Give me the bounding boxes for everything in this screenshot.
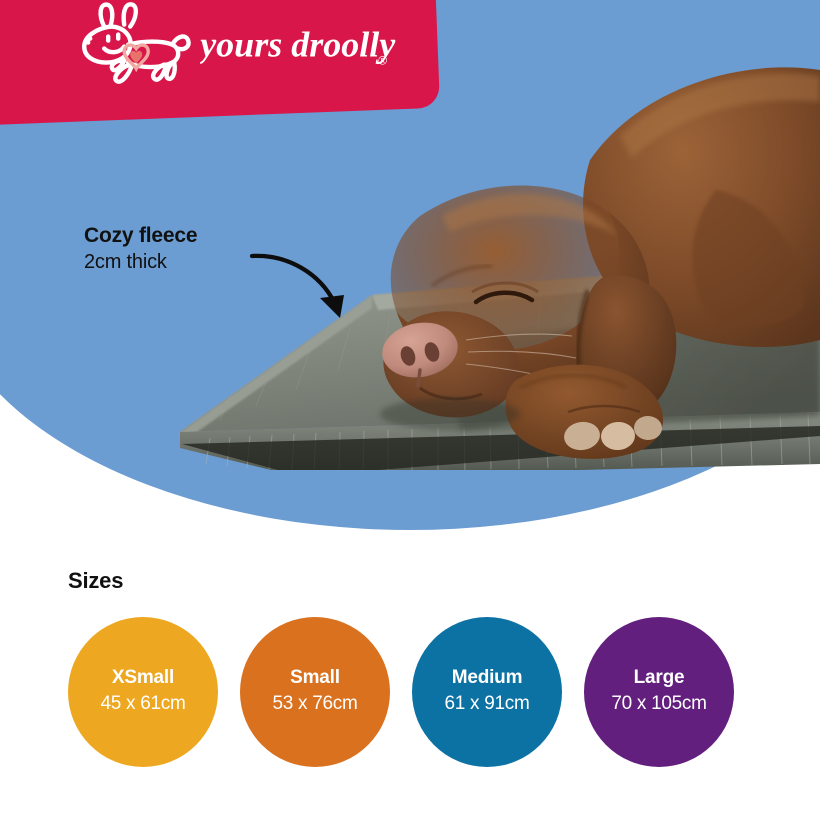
- brand-wordmark: yours droolly ®: [200, 17, 400, 75]
- size-name: Large: [634, 668, 685, 689]
- size-circle-medium[interactable]: Medium 61 x 91cm: [412, 617, 562, 767]
- product-infographic: Cozy fleece 2cm thick: [0, 0, 820, 822]
- callout-title: Cozy fleece: [84, 224, 324, 248]
- size-dimensions: 70 x 105cm: [611, 692, 706, 716]
- sizes-section: Sizes XSmall 45 x 61cm Small 53 x 76cm M…: [0, 530, 820, 822]
- size-name: XSmall: [112, 668, 174, 689]
- size-circle-small[interactable]: Small 53 x 76cm: [240, 617, 390, 767]
- dog-line-art-icon: [74, 1, 192, 89]
- brand-name: yours droolly: [200, 25, 396, 65]
- size-circle-large[interactable]: Large 70 x 105cm: [584, 617, 734, 767]
- size-dimensions: 61 x 91cm: [445, 692, 530, 716]
- size-dimensions: 53 x 76cm: [273, 692, 358, 716]
- size-dimensions: 45 x 61cm: [101, 692, 186, 716]
- size-name: Medium: [452, 668, 523, 689]
- curved-arrow-icon: [248, 248, 358, 328]
- size-circle-xsmall[interactable]: XSmall 45 x 61cm: [68, 617, 218, 767]
- brand-banner: yours droolly ®: [0, 0, 440, 126]
- hero-section: Cozy fleece 2cm thick: [0, 0, 820, 530]
- size-circle-list: XSmall 45 x 61cm Small 53 x 76cm Medium …: [68, 612, 768, 772]
- sizes-heading: Sizes: [68, 568, 123, 594]
- trademark-symbol: ®: [378, 54, 387, 68]
- size-name: Small: [290, 668, 340, 689]
